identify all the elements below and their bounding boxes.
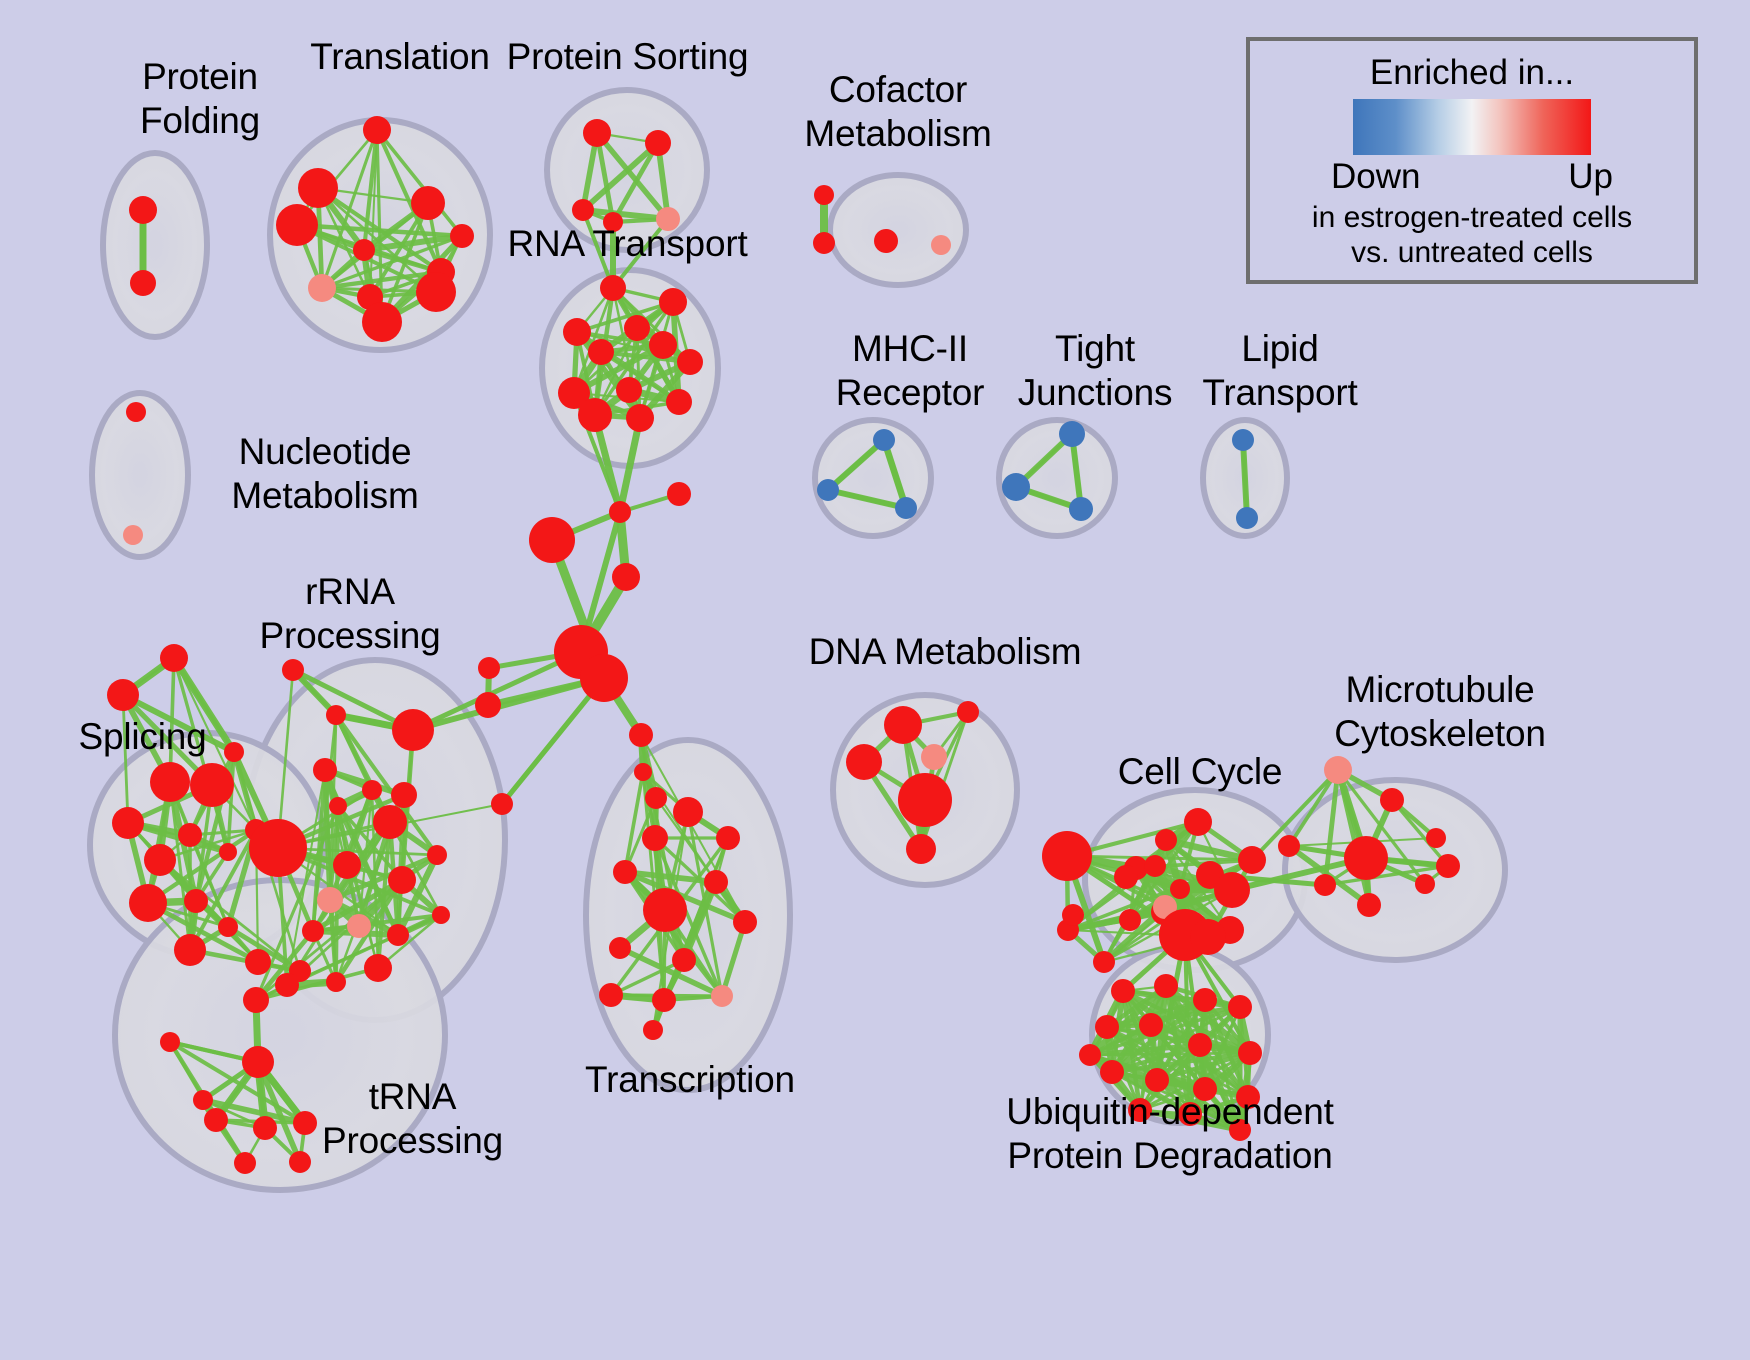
network-node[interactable] bbox=[298, 168, 338, 208]
cluster-label-splicing: Splicing bbox=[55, 715, 230, 759]
network-node[interactable] bbox=[317, 887, 343, 913]
network-node[interactable] bbox=[174, 934, 206, 966]
network-node[interactable] bbox=[282, 659, 304, 681]
network-node[interactable] bbox=[643, 888, 687, 932]
cluster-label-line: Cofactor bbox=[778, 68, 1018, 112]
network-node[interactable] bbox=[160, 644, 188, 672]
network-node[interactable] bbox=[275, 973, 299, 997]
network-node[interactable] bbox=[313, 758, 337, 782]
network-node[interactable] bbox=[733, 910, 757, 934]
network-node[interactable] bbox=[450, 224, 474, 248]
network-node[interactable] bbox=[432, 906, 450, 924]
network-node[interactable] bbox=[874, 229, 898, 253]
network-node[interactable] bbox=[931, 235, 951, 255]
cluster-label-line: Protein Degradation bbox=[985, 1134, 1355, 1178]
network-node[interactable] bbox=[249, 819, 307, 877]
network-node[interactable] bbox=[643, 1020, 663, 1040]
network-node[interactable] bbox=[572, 199, 594, 221]
network-node[interactable] bbox=[921, 744, 947, 770]
network-node[interactable] bbox=[652, 988, 676, 1012]
network-node[interactable] bbox=[1042, 831, 1092, 881]
network-node[interactable] bbox=[245, 949, 271, 975]
cluster-label-line: Lipid bbox=[1170, 327, 1390, 371]
cluster-ellipse-mhc-ii-receptor[interactable] bbox=[815, 420, 931, 536]
network-node[interactable] bbox=[873, 429, 895, 451]
network-node[interactable] bbox=[276, 204, 318, 246]
cluster-label-rrna-processing: rRNAProcessing bbox=[240, 570, 460, 658]
network-node[interactable] bbox=[112, 807, 144, 839]
cluster-label-line: Microtubule bbox=[1290, 668, 1590, 712]
network-node[interactable] bbox=[629, 723, 653, 747]
network-node[interactable] bbox=[645, 130, 671, 156]
network-node[interactable] bbox=[1357, 893, 1381, 917]
cluster-label-line: Metabolism bbox=[195, 474, 455, 518]
network-node[interactable] bbox=[1278, 835, 1300, 857]
network-node[interactable] bbox=[895, 497, 917, 519]
network-node[interactable] bbox=[391, 782, 417, 808]
network-node[interactable] bbox=[1314, 874, 1336, 896]
network-node[interactable] bbox=[1111, 979, 1135, 1003]
network-node[interactable] bbox=[1426, 828, 1446, 848]
network-node[interactable] bbox=[193, 1090, 213, 1110]
cluster-label-line: Processing bbox=[300, 1119, 525, 1163]
network-node[interactable] bbox=[609, 501, 631, 523]
legend-subtitle-line2: vs. untreated cells bbox=[1312, 235, 1632, 270]
network-node[interactable] bbox=[814, 185, 834, 205]
network-node[interactable] bbox=[204, 1108, 228, 1132]
network-node[interactable] bbox=[107, 679, 139, 711]
network-node[interactable] bbox=[578, 398, 612, 432]
network-node[interactable] bbox=[1114, 865, 1138, 889]
cluster-label-lipid-transport: LipidTransport bbox=[1170, 327, 1390, 415]
legend-panel: Enriched in... Down Up in estrogen-treat… bbox=[1246, 37, 1698, 284]
legend-subtitle: in estrogen-treated cells vs. untreated … bbox=[1312, 200, 1632, 270]
cluster-label-line: Transport bbox=[1170, 371, 1390, 415]
network-node[interactable] bbox=[1154, 974, 1178, 998]
cluster-label-cell-cycle: Cell Cycle bbox=[1100, 750, 1300, 794]
network-node[interactable] bbox=[634, 763, 652, 781]
network-node[interactable] bbox=[1184, 808, 1212, 836]
network-node[interactable] bbox=[612, 563, 640, 591]
cluster-label-microtubule-cytoskeleton: MicrotubuleCytoskeleton bbox=[1290, 668, 1590, 756]
network-node[interactable] bbox=[129, 884, 167, 922]
network-canvas: ProteinFoldingTranslationProtein Sorting… bbox=[0, 0, 1750, 1360]
legend-low-label: Down bbox=[1331, 156, 1420, 198]
network-node[interactable] bbox=[362, 302, 402, 342]
network-node[interactable] bbox=[242, 1046, 274, 1078]
network-node[interactable] bbox=[1415, 874, 1435, 894]
cluster-label-transcription: Transcription bbox=[565, 1058, 815, 1102]
legend-subtitle-line1: in estrogen-treated cells bbox=[1312, 200, 1632, 235]
network-node[interactable] bbox=[190, 763, 234, 807]
network-node[interactable] bbox=[667, 482, 691, 506]
network-node[interactable] bbox=[1436, 854, 1460, 878]
network-node[interactable] bbox=[1145, 1068, 1169, 1092]
network-node[interactable] bbox=[150, 762, 190, 802]
network-node[interactable] bbox=[387, 924, 409, 946]
network-node[interactable] bbox=[609, 937, 631, 959]
network-node[interactable] bbox=[666, 389, 692, 415]
cluster-label-line: RNA Transport bbox=[495, 222, 760, 266]
network-node[interactable] bbox=[529, 517, 575, 563]
network-node[interactable] bbox=[600, 275, 626, 301]
cluster-label-translation: Translation bbox=[285, 35, 515, 79]
network-node[interactable] bbox=[219, 843, 237, 861]
network-node[interactable] bbox=[411, 186, 445, 220]
network-node[interactable] bbox=[1069, 497, 1093, 521]
network-node[interactable] bbox=[580, 654, 628, 702]
network-node[interactable] bbox=[326, 705, 346, 725]
cluster-label-cofactor-metabolism: CofactorMetabolism bbox=[778, 68, 1018, 156]
network-node[interactable] bbox=[704, 870, 728, 894]
network-node[interactable] bbox=[353, 239, 375, 261]
network-node[interactable] bbox=[1228, 995, 1252, 1019]
network-node[interactable] bbox=[363, 116, 391, 144]
cluster-label-line: Splicing bbox=[55, 715, 230, 759]
network-node[interactable] bbox=[326, 972, 346, 992]
cluster-ellipse-cofactor-metabolism[interactable] bbox=[830, 175, 966, 285]
network-node[interactable] bbox=[329, 797, 347, 815]
network-node[interactable] bbox=[160, 1032, 180, 1052]
network-node[interactable] bbox=[491, 793, 513, 815]
cluster-label-line: Metabolism bbox=[778, 112, 1018, 156]
network-node[interactable] bbox=[1232, 429, 1254, 451]
network-node[interactable] bbox=[613, 860, 637, 884]
cluster-label-line: Protein Sorting bbox=[495, 35, 760, 79]
network-node[interactable] bbox=[813, 232, 835, 254]
network-node[interactable] bbox=[673, 797, 703, 827]
network-node[interactable] bbox=[1139, 1013, 1163, 1037]
network-node[interactable] bbox=[427, 845, 447, 865]
network-node[interactable] bbox=[1100, 1060, 1124, 1084]
network-node[interactable] bbox=[1119, 909, 1141, 931]
network-node[interactable] bbox=[957, 701, 979, 723]
network-node[interactable] bbox=[884, 706, 922, 744]
network-node[interactable] bbox=[846, 744, 882, 780]
cluster-ellipse-protein-folding[interactable] bbox=[103, 153, 207, 337]
network-node[interactable] bbox=[599, 983, 623, 1007]
network-node[interactable] bbox=[243, 987, 269, 1013]
cluster-label-line: DNA Metabolism bbox=[805, 630, 1085, 674]
network-node[interactable] bbox=[184, 889, 208, 913]
network-node[interactable] bbox=[1238, 1041, 1262, 1065]
cluster-label-protein-sorting: Protein Sorting bbox=[495, 35, 760, 79]
network-node[interactable] bbox=[388, 866, 416, 894]
network-node[interactable] bbox=[898, 773, 952, 827]
legend-color-bar bbox=[1353, 99, 1591, 155]
network-node[interactable] bbox=[1002, 473, 1030, 501]
network-node[interactable] bbox=[478, 657, 500, 679]
network-node[interactable] bbox=[178, 823, 202, 847]
legend-title: Enriched in... bbox=[1370, 53, 1574, 93]
legend-endpoints: Down Up bbox=[1331, 156, 1613, 198]
network-node[interactable] bbox=[1059, 421, 1085, 447]
network-node[interactable] bbox=[253, 1116, 277, 1140]
cluster-label-line: Nucleotide bbox=[195, 430, 455, 474]
cluster-label-line: Protein bbox=[85, 55, 315, 99]
network-node[interactable] bbox=[362, 780, 382, 800]
network-node[interactable] bbox=[1155, 829, 1177, 851]
network-node[interactable] bbox=[588, 339, 614, 365]
network-node[interactable] bbox=[659, 288, 687, 316]
network-node[interactable] bbox=[333, 851, 361, 879]
network-node[interactable] bbox=[1062, 904, 1084, 926]
network-node[interactable] bbox=[906, 834, 936, 864]
network-node[interactable] bbox=[373, 805, 407, 839]
network-node[interactable] bbox=[626, 404, 654, 432]
cluster-label-rna-transport: RNA Transport bbox=[495, 222, 760, 266]
network-node[interactable] bbox=[616, 377, 642, 403]
network-node[interactable] bbox=[711, 985, 733, 1007]
cluster-label-line: Translation bbox=[285, 35, 515, 79]
network-node[interactable] bbox=[677, 349, 703, 375]
cluster-label-ubiquitin-degradation: Ubiquitin-dependentProtein Degradation bbox=[985, 1090, 1355, 1178]
network-node[interactable] bbox=[392, 709, 434, 751]
cluster-label-line: rRNA bbox=[240, 570, 460, 614]
network-node[interactable] bbox=[475, 692, 501, 718]
cluster-label-line: Processing bbox=[240, 614, 460, 658]
network-node[interactable] bbox=[144, 844, 176, 876]
legend-high-label: Up bbox=[1568, 156, 1613, 198]
network-node[interactable] bbox=[364, 954, 392, 982]
network-node[interactable] bbox=[1214, 872, 1250, 908]
network-node[interactable] bbox=[129, 196, 157, 224]
network-node[interactable] bbox=[347, 914, 371, 938]
cluster-label-line: Transcription bbox=[565, 1058, 815, 1102]
network-node[interactable] bbox=[130, 270, 156, 296]
cluster-label-nucleotide-metabolism: NucleotideMetabolism bbox=[195, 430, 455, 518]
network-node[interactable] bbox=[1236, 507, 1258, 529]
network-node[interactable] bbox=[1170, 879, 1190, 899]
network-node[interactable] bbox=[1190, 919, 1226, 955]
network-node[interactable] bbox=[583, 119, 611, 147]
network-node[interactable] bbox=[302, 920, 324, 942]
network-node[interactable] bbox=[1380, 788, 1404, 812]
network-node[interactable] bbox=[1093, 951, 1115, 973]
network-node[interactable] bbox=[563, 318, 591, 346]
network-node[interactable] bbox=[1344, 836, 1388, 880]
network-node[interactable] bbox=[817, 479, 839, 501]
cluster-label-dna-metabolism: DNA Metabolism bbox=[805, 630, 1085, 674]
cluster-label-line: Folding bbox=[85, 99, 315, 143]
cluster-label-trna-processing: tRNAProcessing bbox=[300, 1075, 525, 1163]
network-node[interactable] bbox=[1095, 1015, 1119, 1039]
network-node[interactable] bbox=[1188, 1033, 1212, 1057]
network-node[interactable] bbox=[672, 948, 696, 972]
network-node[interactable] bbox=[649, 331, 677, 359]
network-node[interactable] bbox=[1079, 1044, 1101, 1066]
network-node[interactable] bbox=[234, 1152, 256, 1174]
network-edge bbox=[1243, 440, 1247, 518]
network-node[interactable] bbox=[308, 274, 336, 302]
network-node[interactable] bbox=[218, 917, 238, 937]
cluster-label-line: Cell Cycle bbox=[1100, 750, 1300, 794]
network-node[interactable] bbox=[642, 825, 668, 851]
network-node[interactable] bbox=[1193, 988, 1217, 1012]
network-node[interactable] bbox=[126, 402, 146, 422]
network-node[interactable] bbox=[416, 272, 456, 312]
network-node[interactable] bbox=[1144, 855, 1166, 877]
network-node[interactable] bbox=[716, 826, 740, 850]
network-node[interactable] bbox=[1324, 756, 1352, 784]
cluster-label-line: Cytoskeleton bbox=[1290, 712, 1590, 756]
cluster-label-line: Ubiquitin-dependent bbox=[985, 1090, 1355, 1134]
cluster-label-protein-folding: ProteinFolding bbox=[85, 55, 315, 143]
network-node[interactable] bbox=[624, 315, 650, 341]
network-node[interactable] bbox=[645, 787, 667, 809]
cluster-label-line: tRNA bbox=[300, 1075, 525, 1119]
network-node[interactable] bbox=[123, 525, 143, 545]
network-node[interactable] bbox=[1238, 846, 1266, 874]
